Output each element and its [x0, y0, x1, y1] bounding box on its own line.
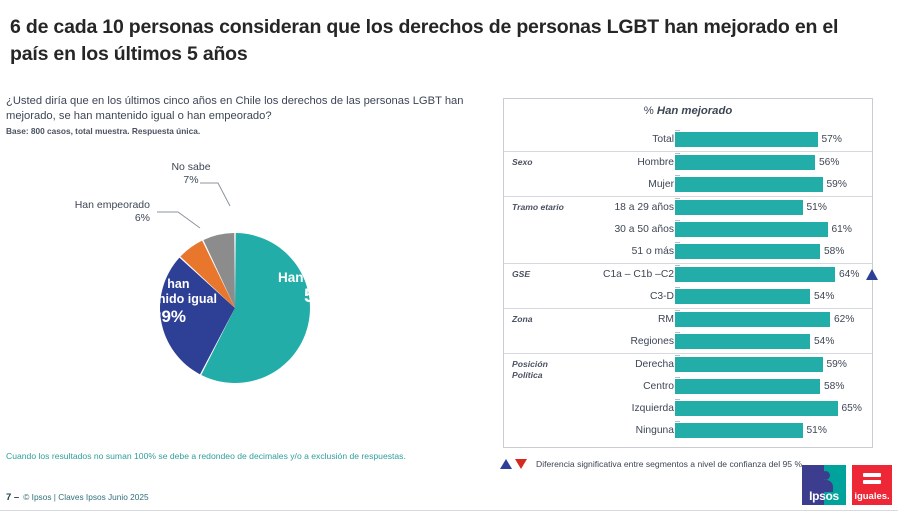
axis-tick — [675, 310, 680, 311]
panel-header-percent: % — [644, 105, 654, 117]
bar-value-label: 59% — [827, 354, 847, 376]
page-footer: 7 – © Ipsos | Claves Ipsos Junio 2025 — [6, 492, 149, 503]
equals-icon-bar-top — [863, 473, 881, 477]
segment-row-label: Derecha — [574, 354, 674, 376]
segment-group: SexoHombre56%Mujer59% — [504, 152, 872, 197]
segment-row[interactable]: C1a – C1b –C264% — [504, 264, 872, 286]
segment-row[interactable]: C3-D54% — [504, 286, 872, 308]
segment-row[interactable]: Derecha59% — [504, 354, 872, 376]
segment-group: ZonaRM62%Regiones54% — [504, 309, 872, 354]
segment-row[interactable]: Hombre56% — [504, 152, 872, 174]
pie-label-no-sabe: No sabe 7% — [150, 161, 232, 187]
pie-label-han-mejorado-text: Han mejorado — [278, 270, 368, 285]
axis-tick — [675, 175, 680, 176]
segment-row[interactable]: Total57% — [504, 129, 872, 151]
bar-value-label: 51% — [807, 197, 827, 219]
bar-track: 57% — [675, 129, 868, 151]
segment-row-label: 30 a 50 años — [574, 219, 674, 241]
pie-label-se-han-mantenido-igual-value: 29% — [120, 307, 218, 327]
iguales-logo-wordmark: iguales. — [852, 491, 892, 502]
equals-icon-bar-bottom — [863, 480, 881, 484]
segment-row-label: Total — [574, 129, 674, 151]
bar — [675, 401, 838, 416]
bar-track: 58% — [675, 241, 868, 263]
bar-track: 56% — [675, 152, 868, 174]
bar — [675, 244, 820, 259]
bar-track: 61% — [675, 219, 868, 241]
axis-tick — [675, 287, 680, 288]
leader-line-han-empeorado — [157, 212, 200, 228]
pie-label-han-empeorado: Han empeorado 6% — [60, 199, 150, 225]
segment-group: Total57% — [504, 129, 872, 152]
pie-label-han-mejorado: Han mejorado 57% — [268, 270, 378, 308]
bar-value-label: 65% — [842, 398, 862, 420]
bar-value-label: 64% — [839, 264, 859, 286]
axis-tick — [675, 355, 680, 356]
bar-value-label: 54% — [814, 331, 834, 353]
bar — [675, 357, 823, 372]
bar-track: 59% — [675, 354, 868, 376]
axis-tick — [675, 153, 680, 154]
bar-track: 64% — [675, 264, 868, 286]
segment-row-label: RM — [574, 309, 674, 331]
bar-track: 58% — [675, 376, 868, 398]
footnote-rounding: Cuando los resultados no suman 100% se d… — [6, 450, 426, 462]
bar — [675, 289, 810, 304]
pie-label-han-empeorado-value: 6% — [60, 212, 150, 225]
segment-row[interactable]: Ninguna51% — [504, 420, 872, 442]
segment-row[interactable]: Centro58% — [504, 376, 872, 398]
question-base-text: Base: 800 casos, total muestra. Respuest… — [6, 126, 476, 137]
segment-row-label: Regiones — [574, 331, 674, 353]
bar-value-label: 59% — [827, 174, 847, 196]
page-title: 6 de cada 10 personas consideran que los… — [10, 14, 870, 68]
segment-row[interactable]: Mujer59% — [504, 174, 872, 196]
axis-tick — [675, 332, 680, 333]
bar-track: 65% — [675, 398, 868, 420]
pie-label-se-han-mantenido-igual-text: Se han mantenido igual — [121, 277, 217, 306]
triangle-down-icon — [515, 459, 527, 469]
bar-track: 59% — [675, 174, 868, 196]
segment-row[interactable]: 51 o más58% — [504, 241, 872, 263]
pie-chart: Han mejorado 57% Se han mantenido igual … — [60, 150, 420, 420]
bar — [675, 379, 820, 394]
segment-row[interactable]: 30 a 50 años61% — [504, 219, 872, 241]
bar — [675, 155, 815, 170]
bar-value-label: 54% — [814, 286, 834, 308]
bar-track: 54% — [675, 331, 868, 353]
segment-group: Tramo etario18 a 29 años51%30 a 50 años6… — [504, 197, 872, 264]
segment-group: Posición PolíticaDerecha59%Centro58%Izqu… — [504, 354, 872, 442]
triangle-up-icon — [500, 459, 512, 469]
bar — [675, 423, 803, 438]
source-credit: © Ipsos | Claves Ipsos Junio 2025 — [23, 492, 148, 502]
segment-row-label: C1a – C1b –C2 — [574, 264, 674, 286]
bar — [675, 200, 803, 215]
segment-row[interactable]: Regiones54% — [504, 331, 872, 353]
pie-label-no-sabe-value: 7% — [150, 174, 232, 187]
axis-tick — [675, 220, 680, 221]
significance-legend-text: Diferencia significativa entre segmentos… — [536, 459, 802, 469]
axis-tick — [675, 399, 680, 400]
pie-label-no-sabe-text: No sabe — [171, 161, 210, 173]
ipsos-logo-wordmark: Ipsos — [802, 489, 846, 503]
segments-panel: % Han mejorado Total57%SexoHombre56%Muje… — [503, 98, 873, 448]
pie-label-se-han-mantenido-igual: Se han mantenido igual 29% — [120, 277, 218, 327]
panel-header: % Han mejorado — [504, 105, 872, 117]
question-text: ¿Usted diría que en los últimos cinco añ… — [6, 94, 476, 124]
iguales-logo: iguales. — [852, 465, 892, 505]
ipsos-logo: Ipsos — [802, 465, 846, 505]
bar-track: 51% — [675, 420, 868, 442]
segment-rows: Total57%SexoHombre56%Mujer59%Tramo etari… — [504, 129, 872, 442]
bar — [675, 267, 835, 282]
bar-track: 51% — [675, 197, 868, 219]
axis-tick — [675, 198, 680, 199]
segment-row-label: Centro — [574, 376, 674, 398]
bar-track: 54% — [675, 286, 868, 308]
pie-label-han-empeorado-text: Han empeorado — [75, 199, 150, 211]
segment-row-label: Izquierda — [574, 398, 674, 420]
bar-value-label: 61% — [832, 219, 852, 241]
bar-value-label: 58% — [824, 241, 844, 263]
segment-row-label: C3-D — [574, 286, 674, 308]
bar-value-label: 56% — [819, 152, 839, 174]
pie-label-han-mejorado-value: 57% — [268, 286, 378, 308]
bar-value-label: 57% — [822, 129, 842, 151]
question-block: ¿Usted diría que en los últimos cinco añ… — [6, 94, 476, 137]
segment-group: GSEC1a – C1b –C264%C3-D54% — [504, 264, 872, 309]
logo-group: Ipsos iguales. — [802, 465, 892, 505]
segment-row[interactable]: Izquierda65% — [504, 398, 872, 420]
significance-legend: Diferencia significativa entre segmentos… — [500, 459, 802, 469]
bar-value-label: 51% — [807, 420, 827, 442]
axis-tick — [675, 130, 680, 131]
ipsos-logo-head-shape — [821, 471, 830, 480]
bar — [675, 132, 818, 147]
panel-header-label: Han mejorado — [657, 105, 732, 117]
bar-value-label: 58% — [824, 376, 844, 398]
axis-tick — [675, 242, 680, 243]
bar — [675, 334, 810, 349]
bar-value-label: 62% — [834, 309, 854, 331]
axis-tick — [675, 421, 680, 422]
axis-tick — [675, 377, 680, 378]
bar — [675, 177, 823, 192]
segment-row-label: 51 o más — [574, 241, 674, 263]
segment-row[interactable]: RM62% — [504, 309, 872, 331]
segment-row-label: Ninguna — [574, 420, 674, 442]
segment-row-label: Hombre — [574, 152, 674, 174]
axis-tick — [675, 265, 680, 266]
segment-row-label: Mujer — [574, 174, 674, 196]
segment-row[interactable]: 18 a 29 años51% — [504, 197, 872, 219]
bar-track: 62% — [675, 309, 868, 331]
bar — [675, 222, 828, 237]
bar — [675, 312, 830, 327]
page-number: 7 – — [6, 492, 19, 503]
significance-up-icon — [866, 269, 878, 280]
segment-row-label: 18 a 29 años — [574, 197, 674, 219]
